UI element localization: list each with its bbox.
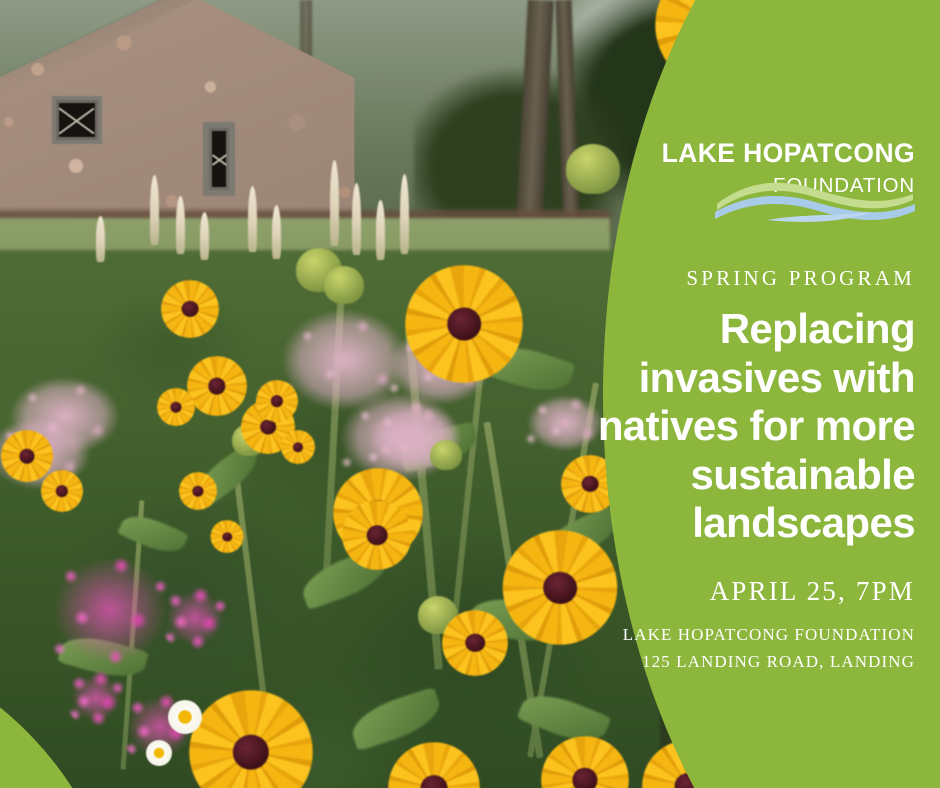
- liatris-spike: [248, 186, 257, 252]
- black-eyed-susan-flower: [340, 500, 414, 570]
- flower-bud: [430, 440, 462, 470]
- black-eyed-susan-flower: [160, 280, 220, 338]
- liatris-spike: [176, 196, 185, 254]
- daisy-flower: [168, 700, 202, 734]
- event-poster: LAKE HOPATCONG FOUNDATION SPRING PROGRAM…: [0, 0, 940, 788]
- liatris-spike: [200, 212, 209, 260]
- flower-bud: [324, 266, 364, 304]
- black-eyed-susan-flower: [255, 380, 299, 422]
- liatris-spike: [400, 174, 409, 254]
- black-eyed-susan-flower: [440, 610, 510, 676]
- liatris-spike: [272, 205, 281, 259]
- liatris-spike: [330, 160, 339, 246]
- page-title: Replacing invasives with natives for mor…: [575, 305, 915, 548]
- phlox-flower: [40, 545, 180, 675]
- program-eyebrow: SPRING PROGRAM: [575, 266, 915, 291]
- venue-line-1: LAKE HOPATCONG FOUNDATION: [623, 625, 915, 644]
- event-venue: LAKE HOPATCONG FOUNDATION 125 LANDING RO…: [575, 625, 915, 672]
- logo-wordmark: LAKE HOPATCONG: [575, 140, 915, 167]
- liatris-spike: [150, 175, 159, 245]
- phlox-flower: [160, 585, 230, 651]
- poster-text-panel: LAKE HOPATCONG FOUNDATION SPRING PROGRAM…: [575, 0, 915, 672]
- lake-hopatcong-foundation-logo: LAKE HOPATCONG FOUNDATION: [575, 140, 915, 222]
- black-eyed-susan-flower: [180, 684, 322, 788]
- liatris-spike: [352, 183, 361, 255]
- black-eyed-susan-flower: [404, 265, 524, 383]
- building-window: [52, 96, 102, 144]
- daisy-flower: [146, 740, 172, 766]
- black-eyed-susan-flower: [178, 472, 218, 510]
- event-date: APRIL 25, 7PM: [575, 576, 915, 607]
- black-eyed-susan-flower: [156, 388, 196, 426]
- black-eyed-susan-flower: [40, 470, 84, 512]
- venue-line-2: 125 LANDING ROAD, LANDING: [575, 652, 915, 672]
- liatris-spike: [376, 200, 385, 260]
- black-eyed-susan-flower: [280, 430, 316, 464]
- liatris-spike: [96, 216, 105, 262]
- building-door: [203, 122, 235, 196]
- black-eyed-susan-flower: [540, 736, 630, 788]
- black-eyed-susan-flower: [210, 520, 244, 553]
- black-eyed-susan-flower: [386, 742, 482, 788]
- phlox-flower: [66, 670, 126, 726]
